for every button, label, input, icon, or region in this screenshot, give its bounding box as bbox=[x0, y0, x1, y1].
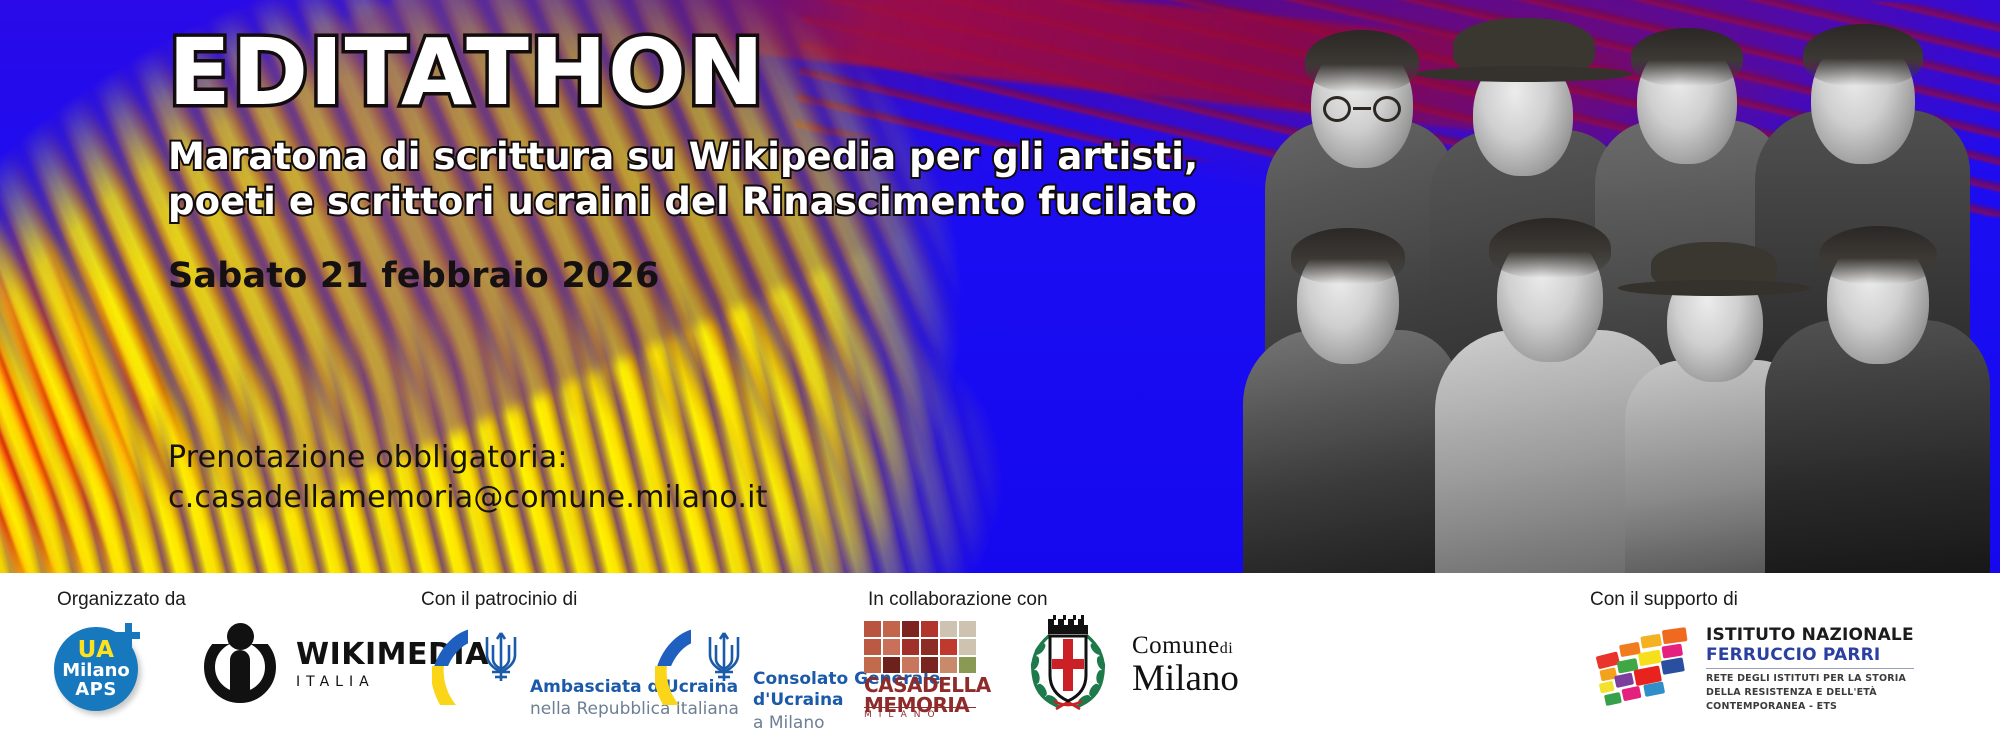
event-date: Sabato 21 febbraio 2026 bbox=[168, 256, 1248, 296]
ua-logo-line-2: Milano bbox=[62, 662, 130, 680]
eyeglasses-icon bbox=[1323, 96, 1401, 122]
section-label-con-il-patrocinio-di: Con il patrocinio di bbox=[421, 589, 577, 611]
casa-della-memoria-logo[interactable]: CASADELLA MEMORIA MILANO bbox=[864, 621, 976, 717]
comune-line-2: Milano bbox=[1132, 660, 1239, 698]
casa-line-1: CASADELLA bbox=[864, 675, 976, 695]
comune-word-di: di bbox=[1220, 640, 1233, 657]
ua-logo-line-3: APS bbox=[75, 681, 117, 699]
figure-back-2-hat bbox=[1453, 18, 1595, 76]
comune-di-milano-wordmark: Comunedi Milano bbox=[1132, 632, 1239, 698]
wikimedia-drop bbox=[230, 650, 250, 694]
comune-di-milano-crest-icon bbox=[1020, 613, 1116, 717]
brick-grid-icon bbox=[864, 621, 976, 673]
ua-logo-line-1: UA bbox=[78, 639, 115, 662]
wikimedia-dot bbox=[227, 623, 254, 650]
figure-front-1-hair bbox=[1291, 228, 1405, 284]
parri-mosaic-icon bbox=[1592, 627, 1697, 711]
parri-line-2: FERRUCCIO PARRI bbox=[1706, 645, 1914, 665]
booking-label: Prenotazione obbligatoria: bbox=[168, 438, 768, 478]
poster-artwork-area: EDITATHON Maratona di scrittura su Wikip… bbox=[0, 0, 2000, 573]
parri-line-4: DELLA RESISTENZA E DELL'ETÀ bbox=[1706, 686, 1914, 700]
section-label-organizzato-da: Organizzato da bbox=[57, 589, 186, 611]
ukraine-trident-icon bbox=[701, 625, 747, 687]
figure-front-3-hat bbox=[1651, 242, 1777, 290]
figure-back-1-hair bbox=[1305, 30, 1419, 92]
parri-line-1: ISTITUTO NAZIONALE bbox=[1706, 625, 1914, 645]
figure-front-1-body bbox=[1243, 330, 1458, 573]
ukraine-trident-icon bbox=[478, 625, 524, 687]
booking-info: Prenotazione obbligatoria: c.casadellame… bbox=[168, 438, 768, 517]
page-title: EDITATHON bbox=[168, 26, 1248, 120]
comune-word-comune: Comune bbox=[1132, 632, 1220, 659]
event-poster: EDITATHON Maratona di scrittura su Wikip… bbox=[0, 0, 2000, 740]
comune-line-1: Comunedi bbox=[1132, 632, 1239, 660]
poster-subtitle: Maratona di scrittura su Wikipedia per g… bbox=[168, 134, 1248, 224]
figure-back-4-hair bbox=[1803, 24, 1923, 86]
figure-back-3-hair bbox=[1631, 28, 1743, 86]
section-label-in-collaborazione-con: In collaborazione con bbox=[868, 589, 1048, 611]
ua-milano-aps-mark: UA Milano APS bbox=[52, 621, 144, 713]
subtitle-line-2: poeti e scrittori ucraini del Rinascimen… bbox=[168, 179, 1248, 224]
wikimedia-puzzle-globe-icon bbox=[200, 623, 280, 703]
casa-della-memoria-mark: CASADELLA MEMORIA MILANO bbox=[864, 621, 976, 717]
ua-milano-aps-logo[interactable]: UA Milano APS bbox=[52, 621, 144, 713]
plus-icon bbox=[116, 623, 140, 647]
group-photo-figures bbox=[1225, 0, 2000, 573]
parri-line-3: RETE DEGLI ISTITUTI PER LA STORIA bbox=[1706, 672, 1914, 686]
section-label-con-il-supporto-di: Con il supporto di bbox=[1590, 589, 1738, 611]
figure-front-2-hair bbox=[1489, 218, 1611, 278]
parri-line-5: CONTEMPORANEA - ETS bbox=[1706, 700, 1914, 714]
subtitle-line-1: Maratona di scrittura su Wikipedia per g… bbox=[168, 134, 1248, 179]
parri-wordmark: ISTITUTO NAZIONALE FERRUCCIO PARRI RETE … bbox=[1706, 625, 1914, 713]
booking-email[interactable]: c.casadellamemoria@comune.milano.it bbox=[168, 478, 768, 518]
group-photo bbox=[1225, 0, 2000, 573]
comune-di-milano-logo[interactable]: Comunedi Milano bbox=[1020, 613, 1239, 717]
ukraine-arc-icon bbox=[432, 627, 468, 705]
casa-della-memoria-city: MILANO bbox=[864, 707, 976, 720]
figure-front-4-hair bbox=[1819, 226, 1937, 284]
partners-footer: Organizzato da UA Milano APS bbox=[0, 573, 2000, 740]
istituto-nazionale-ferruccio-parri-logo[interactable]: ISTITUTO NAZIONALE FERRUCCIO PARRI RETE … bbox=[1596, 625, 1914, 713]
partner-sections: Organizzato da UA Milano APS bbox=[0, 573, 2000, 740]
ukraine-arc-icon bbox=[655, 627, 691, 705]
headline-block: EDITATHON Maratona di scrittura su Wikip… bbox=[168, 26, 1248, 296]
parri-divider bbox=[1706, 668, 1914, 669]
